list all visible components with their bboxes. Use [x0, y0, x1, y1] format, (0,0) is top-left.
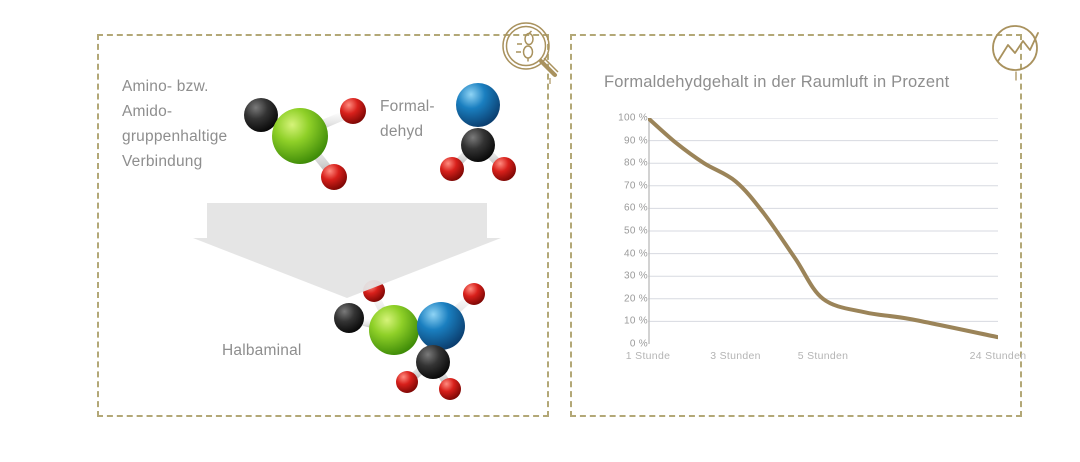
down-arrow-icon [192, 203, 502, 298]
x-tick-label: 24 Stunden [970, 350, 1027, 362]
data-series-line [648, 118, 998, 337]
y-axis-ticks: 100 %90 %80 %70 %60 %50 %40 %30 %20 %10 … [598, 118, 648, 373]
y-tick-label: 60 % [604, 203, 648, 214]
functional-group-atom [369, 305, 419, 355]
y-tick-label: 0 % [604, 339, 648, 350]
line-chart: 100 %90 %80 %70 %60 %50 %40 %30 %20 %10 … [598, 118, 998, 373]
oxygen-atom [340, 98, 366, 124]
nitrogen-atom [456, 83, 500, 127]
functional-group-atom [272, 108, 328, 164]
oxygen-atom [492, 157, 516, 181]
y-tick-label: 10 % [604, 316, 648, 327]
x-tick-label: 1 Stunde [626, 350, 670, 362]
y-tick-label: 70 % [604, 180, 648, 191]
carbon-atom [334, 303, 364, 333]
y-tick-label: 50 % [604, 226, 648, 237]
chart-plot [648, 118, 998, 373]
y-tick-label: 90 % [604, 135, 648, 146]
y-tick-label: 80 % [604, 158, 648, 169]
carbon-atom [416, 345, 450, 379]
infographic-stage: Amino- bzw. Amido- gruppenhaltige Verbin… [0, 0, 1080, 462]
carbon-atom [244, 98, 278, 132]
grid-lines [648, 118, 998, 344]
oxygen-atom [440, 157, 464, 181]
y-tick-label: 30 % [604, 271, 648, 282]
oxygen-atom [321, 164, 347, 190]
x-tick-label: 5 Stunden [798, 350, 849, 362]
magnifier-molecules-icon [500, 20, 564, 84]
trend-chart-circle-icon [988, 20, 1052, 84]
x-tick-label: 3 Stunden [710, 350, 761, 362]
chart-title: Formaldehydgehalt in der Raumluft in Pro… [604, 73, 949, 92]
y-tick-label: 100 % [604, 113, 648, 124]
carbon-atom [461, 128, 495, 162]
y-tick-label: 20 % [604, 293, 648, 304]
nitrogen-atom [417, 302, 465, 350]
amino-compound-molecule [228, 84, 378, 199]
y-tick-label: 40 % [604, 248, 648, 259]
oxygen-atom [396, 371, 418, 393]
formaldehyde-molecule [432, 70, 524, 190]
oxygen-atom [439, 378, 461, 400]
